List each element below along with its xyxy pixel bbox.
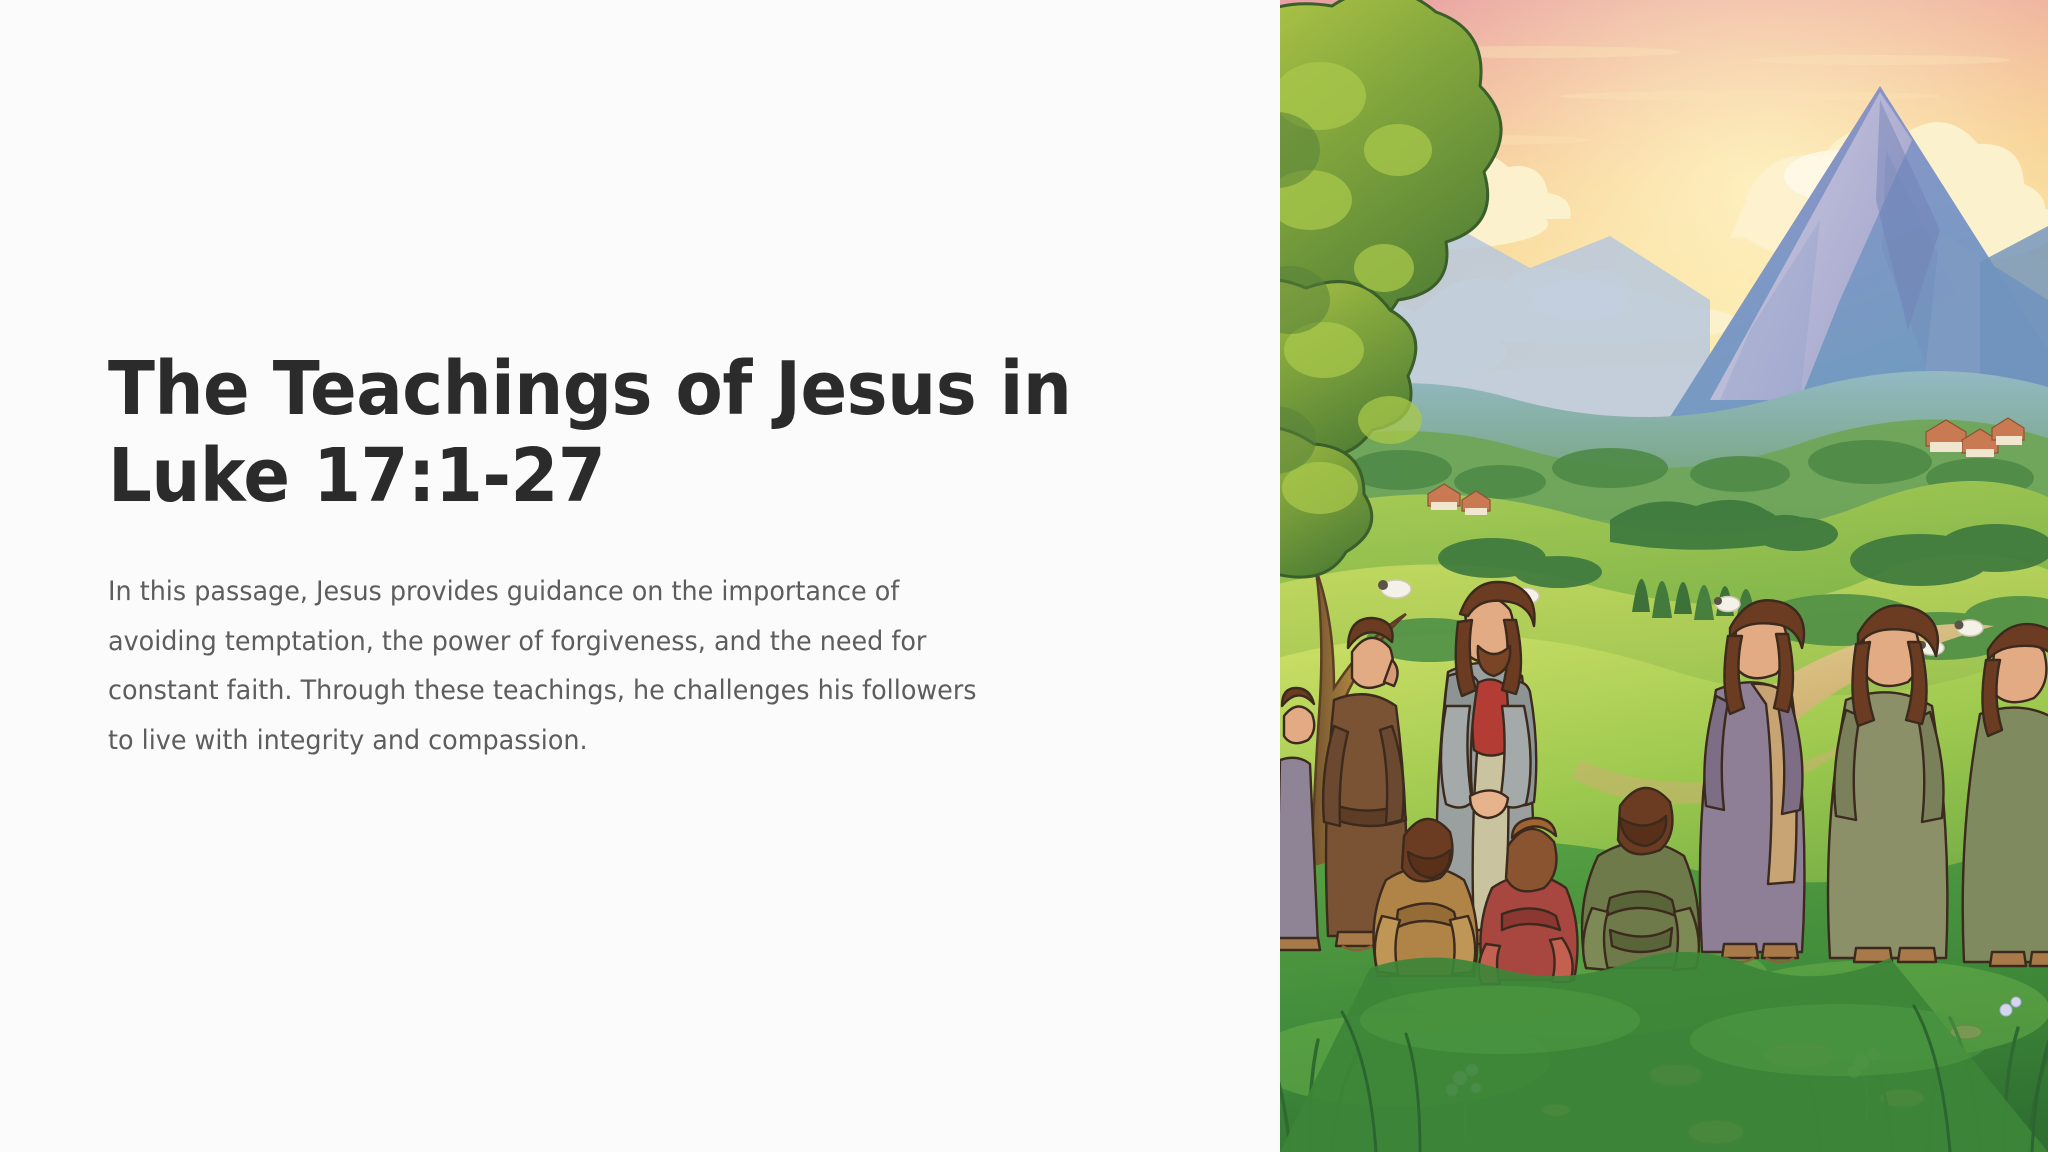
text-panel: The Teachings of Jesus in Luke 17:1-27 I…: [0, 0, 1280, 1152]
body-paragraph: In this passage, Jesus provides guidance…: [108, 567, 977, 766]
illustration-panel: [1280, 0, 2048, 1152]
slide-root: The Teachings of Jesus in Luke 17:1-27 I…: [0, 0, 2048, 1152]
page-title-line-2: Luke 17:1-27: [108, 433, 1057, 520]
hillside-sermon-illustration: [1280, 0, 2048, 1152]
page-title-line-1: The Teachings of Jesus in: [108, 346, 1057, 433]
page-title: The Teachings of Jesus in Luke 17:1-27: [108, 346, 1057, 521]
